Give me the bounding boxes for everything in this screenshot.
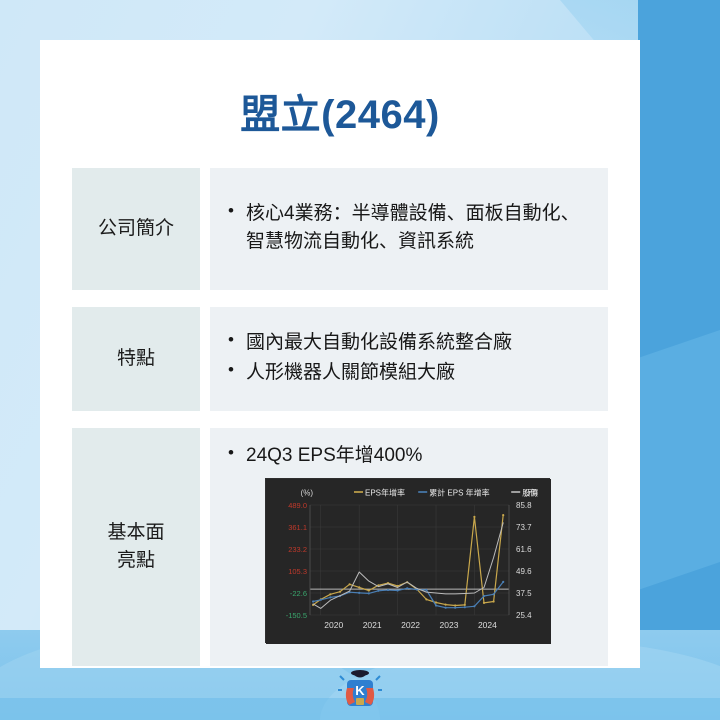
x-tick-4: 2024: [477, 620, 496, 630]
series-point-0-19: [492, 600, 494, 602]
series-point-0-5: [358, 586, 360, 588]
x-tick-0: 2020: [324, 620, 343, 630]
series-point-0-3: [338, 590, 340, 592]
series-point-1-0: [312, 600, 314, 602]
series-point-1-2: [329, 596, 331, 598]
series-point-0-16: [463, 603, 465, 605]
list-item: 核心4業務：半導體設備、面板自動化、智慧物流自動化、資訊系統: [224, 200, 590, 255]
y-tick-left-5: -150.5: [285, 611, 306, 620]
row-body-features: 國內最大自動化設備系統整合廠 人形機器人關節模組大廠: [210, 307, 608, 411]
bullet-list: 國內最大自動化設備系統整合廠 人形機器人關節模組大廠: [224, 329, 512, 388]
series-point-0-6: [367, 589, 369, 591]
row-label-company-intro: 公司簡介: [72, 168, 200, 290]
y-tick-left-3: 105.3: [288, 567, 307, 576]
series-point-1-9: [396, 589, 398, 591]
series-point-0-17: [473, 515, 475, 517]
y-tick-left-2: 233.2: [288, 545, 307, 554]
y-tick-right-3: 49.6: [516, 567, 532, 576]
y-tick-right-0: 85.8: [516, 501, 532, 510]
series-point-1-1: [319, 598, 321, 600]
series-point-1-5: [358, 591, 360, 593]
y-tick-right-2: 61.6: [516, 545, 532, 554]
y-tick-left-4: -22.6: [289, 589, 306, 598]
background-band-right: [638, 0, 720, 720]
series-point-0-15: [454, 604, 456, 606]
series-point-1-19: [492, 593, 494, 595]
series-point-1-13: [434, 604, 436, 606]
legend-label-0: EPS年增率: [365, 487, 405, 497]
series-point-1-17: [473, 605, 475, 607]
table-row: 公司簡介 核心4業務：半導體設備、面板自動化、智慧物流自動化、資訊系統: [72, 168, 608, 290]
series-point-1-7: [377, 589, 379, 591]
y-tick-right-5: 25.4: [516, 611, 532, 620]
y-tick-left-0: 489.0: [288, 501, 307, 510]
series-point-1-6: [367, 592, 369, 594]
info-table: 公司簡介 核心4業務：半導體設備、面板自動化、智慧物流自動化、資訊系統 特點 國…: [40, 168, 640, 666]
row-label-line1: 基本面: [107, 519, 164, 547]
bullet-list: 24Q3 EPS年增400%: [224, 442, 590, 470]
x-tick-1: 2021: [362, 620, 381, 630]
logo-letter: K: [355, 683, 365, 698]
row-body-fundamental-highlights: 24Q3 EPS年增400% EPS年增率累計 EPS 年增率股價(%)(元)4…: [210, 428, 608, 666]
chart-container: EPS年增率累計 EPS 年增率股價(%)(元)489.085.8361.173…: [224, 478, 590, 643]
row-label-line2: 亮點: [107, 547, 164, 575]
y-tick-right-1: 73.7: [516, 523, 532, 532]
left-axis-unit: (%): [300, 488, 313, 497]
x-tick-3: 2023: [439, 620, 458, 630]
table-row: 特點 國內最大自動化設備系統整合廠 人形機器人關節模組大廠: [72, 307, 608, 411]
series-point-0-14: [444, 603, 446, 605]
series-point-1-12: [425, 588, 427, 590]
series-point-1-20: [502, 580, 504, 582]
series-point-0-12: [425, 598, 427, 600]
content-card: 盟立(2464) 公司簡介 核心4業務：半導體設備、面板自動化、智慧物流自動化、…: [40, 40, 640, 668]
legend-label-1: 累計 EPS 年增率: [429, 487, 489, 497]
series-point-0-18: [482, 601, 484, 603]
series-point-1-14: [444, 606, 446, 608]
y-tick-right-4: 37.5: [516, 589, 532, 598]
bullet-list: 核心4業務：半導體設備、面板自動化、智慧物流自動化、資訊系統: [224, 200, 590, 257]
row-label-fundamental-highlights: 基本面 亮點: [72, 428, 200, 666]
table-row: 基本面 亮點 24Q3 EPS年增400% EPS年增率累計 EPS 年增率股價…: [72, 428, 608, 666]
eps-price-line-chart[interactable]: EPS年增率累計 EPS 年增率股價(%)(元)489.085.8361.173…: [265, 478, 550, 643]
series-point-1-16: [463, 606, 465, 608]
series-point-0-2: [329, 593, 331, 595]
series-point-0-4: [348, 583, 350, 585]
series-point-1-18: [482, 594, 484, 596]
right-axis-unit: (元): [524, 488, 538, 497]
list-item: 國內最大自動化設備系統整合廠: [224, 329, 512, 357]
row-body-company-intro: 核心4業務：半導體設備、面板自動化、智慧物流自動化、資訊系統: [210, 168, 608, 290]
series-point-1-15: [454, 606, 456, 608]
list-item: 人形機器人關節模組大廠: [224, 359, 512, 387]
page-title: 盟立(2464): [40, 82, 640, 140]
series-point-1-8: [386, 588, 388, 590]
row-label-features: 特點: [72, 307, 200, 411]
y-tick-left-1: 361.1: [288, 523, 307, 532]
hero-k-logo: K: [338, 664, 382, 712]
chart-svg: EPS年增率累計 EPS 年增率股價(%)(元)489.085.8361.173…: [266, 479, 551, 644]
list-item: 24Q3 EPS年增400%: [224, 442, 590, 470]
x-tick-2: 2022: [401, 620, 420, 630]
series-point-1-10: [406, 587, 408, 589]
series-point-0-20: [502, 514, 504, 516]
